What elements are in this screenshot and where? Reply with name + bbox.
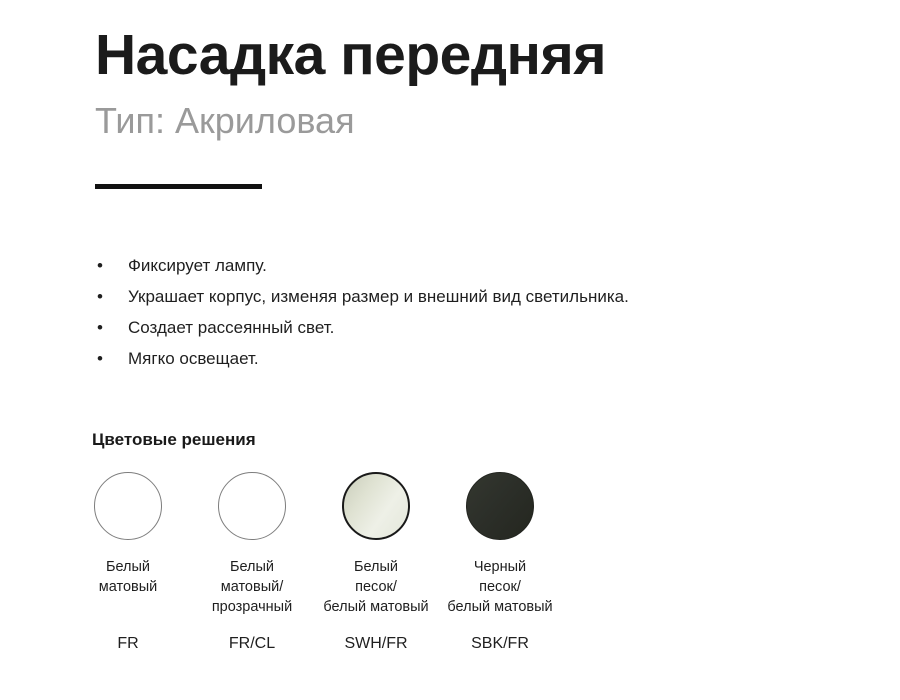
colors-section-heading: Цветовые решения: [92, 430, 256, 450]
product-spec-page: Насадка передняя Тип: Акриловая • Фиксир…: [0, 0, 900, 700]
swatch-circle-icon[interactable]: [466, 472, 534, 540]
swatch-code: SBK/FR: [471, 634, 529, 654]
swatch-circle-icon[interactable]: [94, 472, 162, 540]
swatch-code: FR/CL: [229, 634, 275, 654]
feature-text: Создает рассеянный свет.: [128, 318, 334, 337]
header: Насадка передняя Тип: Акриловая: [95, 26, 855, 141]
swatch-caption: Белый матовый/ прозрачный: [212, 557, 292, 617]
swatch-circle-icon[interactable]: [342, 472, 410, 540]
color-swatch-option-sbkfr[interactable]: Черный песок/ белый матовый SBK/FR: [438, 472, 562, 617]
header-divider: [95, 184, 262, 189]
swatch-code: FR: [117, 634, 138, 654]
swatch-code: SWH/FR: [344, 634, 407, 654]
bullet-icon: •: [97, 343, 103, 374]
bullet-icon: •: [97, 250, 103, 281]
swatch-caption: Белый матовый: [99, 557, 157, 597]
list-item: • Фиксирует лампу.: [95, 250, 855, 281]
page-subtitle: Тип: Акриловая: [95, 100, 855, 141]
color-swatch-row: Белый матовый FR Белый матовый/ прозрачн…: [66, 472, 626, 617]
list-item: • Мягко освещает.: [95, 343, 855, 374]
list-item: • Создает рассеянный свет.: [95, 312, 855, 343]
list-item: • Украшает корпус, изменяя размер и внеш…: [95, 281, 855, 312]
feature-text: Фиксирует лампу.: [128, 256, 267, 275]
page-title: Насадка передняя: [95, 26, 855, 86]
color-swatch-option-swhfr[interactable]: Белый песок/ белый матовый SWH/FR: [314, 472, 438, 617]
color-swatch-option-fr[interactable]: Белый матовый FR: [66, 472, 190, 617]
swatch-caption: Белый песок/ белый матовый: [323, 557, 428, 617]
swatch-circle-icon[interactable]: [218, 472, 286, 540]
feature-list: • Фиксирует лампу. • Украшает корпус, из…: [95, 250, 855, 374]
bullet-icon: •: [97, 312, 103, 343]
bullet-icon: •: [97, 281, 103, 312]
swatch-caption: Черный песок/ белый матовый: [447, 557, 552, 617]
feature-text: Украшает корпус, изменяя размер и внешни…: [128, 287, 629, 306]
color-swatch-option-frcl[interactable]: Белый матовый/ прозрачный FR/CL: [190, 472, 314, 617]
feature-text: Мягко освещает.: [128, 349, 259, 368]
